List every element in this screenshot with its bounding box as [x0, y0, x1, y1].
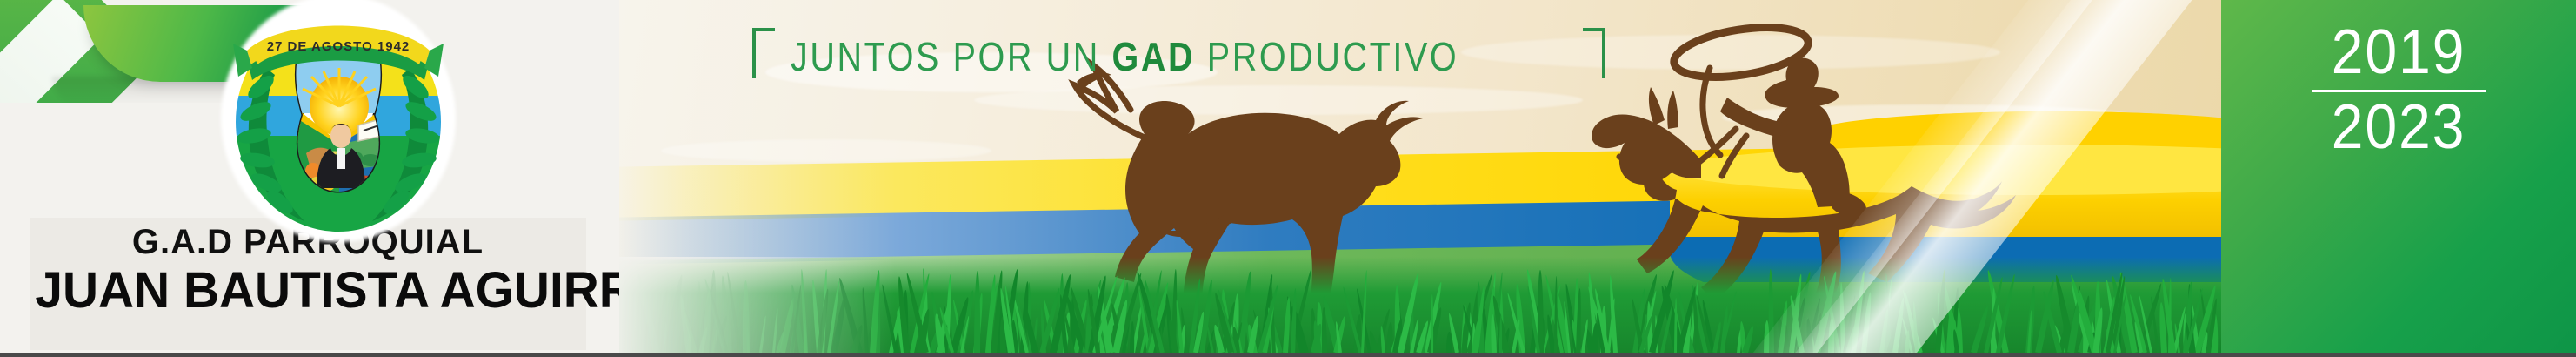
logo-panel: 27 DE AGOSTO 1942 G.A.D PARROQUIAL JUAN …	[0, 0, 619, 357]
bracket-right-icon	[1583, 28, 1605, 78]
coat-of-arms: 27 DE AGOSTO 1942	[209, 3, 468, 237]
slogan-part1: JUNTOS POR UN	[791, 34, 1111, 79]
grass-blade	[1431, 294, 1433, 353]
slogan-text: JUNTOS POR UN GAD PRODUCTIVO	[791, 37, 1458, 78]
slogan: JUNTOS POR UN GAD PRODUCTIVO	[752, 28, 1605, 78]
cloud-shape	[661, 139, 991, 162]
term-panel: 2019 2023	[2221, 0, 2576, 357]
institutional-banner: JUNTOS POR UN GAD PRODUCTIVO 2019 2023	[0, 0, 2576, 357]
slogan-highlight: GAD	[1111, 34, 1195, 79]
grass-left-fade	[609, 257, 896, 353]
slogan-part2: PRODUCTIVO	[1195, 34, 1458, 79]
term-end-year: 2023	[2235, 96, 2561, 159]
crest-ribbon-text: 27 DE AGOSTO 1942	[267, 39, 410, 54]
bracket-left-icon	[752, 28, 775, 78]
term-start-year: 2019	[2235, 21, 2561, 84]
organization-line2: JUAN BAUTISTA AGUIRRE	[35, 261, 580, 320]
term-years: 2019 2023	[2221, 21, 2576, 160]
